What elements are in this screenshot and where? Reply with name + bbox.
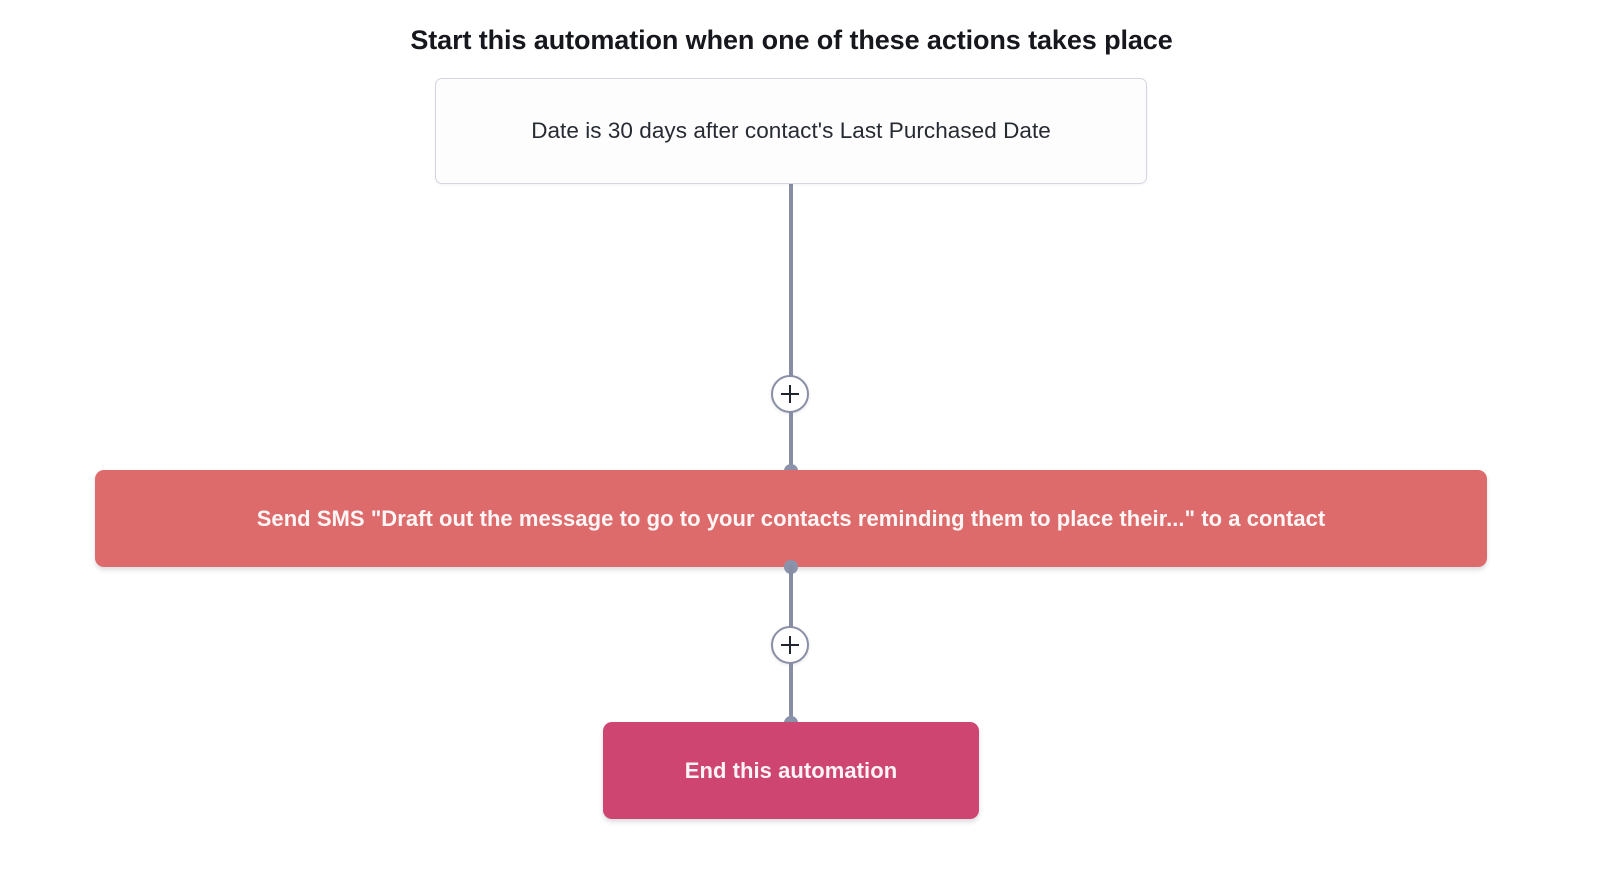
- trigger-node[interactable]: Date is 30 days after contact's Last Pur…: [435, 78, 1147, 184]
- action-node-send-sms[interactable]: Send SMS "Draft out the message to go to…: [95, 470, 1487, 567]
- connector-line-trigger-to-add: [789, 181, 793, 377]
- page-title: Start this automation when one of these …: [0, 21, 1583, 59]
- add-step-button-2[interactable]: [771, 626, 809, 664]
- plus-icon-vertical: [789, 636, 791, 654]
- connector-line-add-to-sms: [789, 411, 793, 472]
- end-automation-node-label: End this automation: [685, 758, 897, 784]
- action-node-send-sms-label: Send SMS "Draft out the message to go to…: [257, 506, 1326, 532]
- automation-flow-canvas: Start this automation when one of these …: [0, 0, 1600, 883]
- plus-icon-vertical: [789, 385, 791, 403]
- add-step-button-1[interactable]: [771, 375, 809, 413]
- trigger-node-label: Date is 30 days after contact's Last Pur…: [531, 118, 1051, 144]
- connector-line-sms-to-add: [789, 565, 793, 628]
- connector-line-add-to-end: [789, 662, 793, 724]
- end-automation-node[interactable]: End this automation: [603, 722, 979, 819]
